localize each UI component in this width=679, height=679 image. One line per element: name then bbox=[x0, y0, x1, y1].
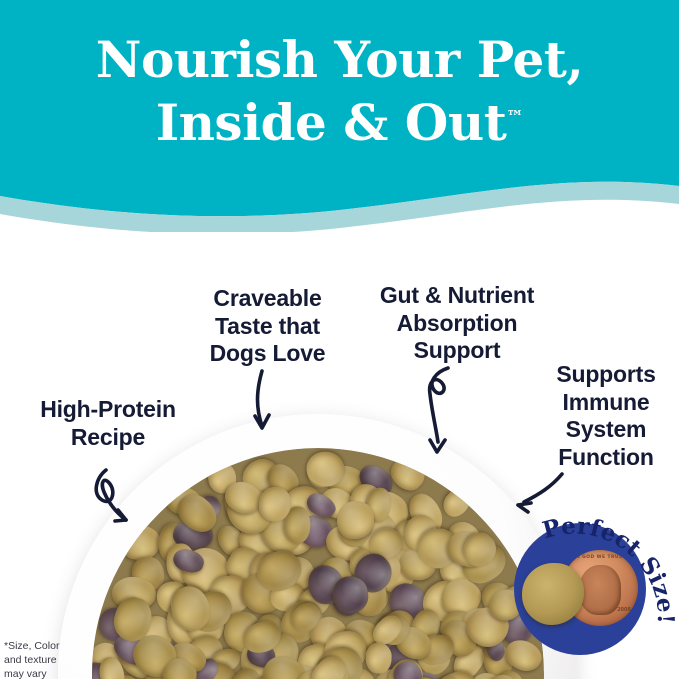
food-bowl bbox=[58, 414, 578, 679]
header-banner: Nourish Your Pet, Inside & Out™ bbox=[0, 0, 679, 232]
page-title: Nourish Your Pet, Inside & Out™ bbox=[0, 28, 679, 154]
promo-image-canvas: Nourish Your Pet, Inside & Out™ High-Pro… bbox=[0, 0, 679, 679]
trademark-icon: ™ bbox=[506, 107, 523, 127]
headline-line-2: Inside & Out bbox=[156, 93, 507, 152]
disclaimer-text: *Size, Color and texture may vary bbox=[4, 640, 84, 679]
callout-immune-system: Supports Immune System Function bbox=[540, 361, 672, 471]
perfect-size-badge: IN GOD WE TRUST 2008 Perfect Size! bbox=[506, 506, 679, 679]
bowl-interior bbox=[92, 448, 544, 679]
badge-curved-label: Perfect Size! bbox=[506, 506, 679, 679]
callout-high-protein-recipe: High-Protein Recipe bbox=[12, 396, 204, 451]
callout-gut-nutrient-absorption: Gut & Nutrient Absorption Support bbox=[362, 282, 552, 365]
callout-craveable-taste: Craveable Taste that Dogs Love bbox=[190, 285, 345, 368]
headline-line-2-wrap: Inside & Out™ bbox=[0, 91, 679, 154]
headline-line-1: Nourish Your Pet, bbox=[96, 30, 584, 89]
badge-label-text: Perfect Size! bbox=[540, 512, 679, 624]
kibble-pile bbox=[92, 448, 544, 679]
